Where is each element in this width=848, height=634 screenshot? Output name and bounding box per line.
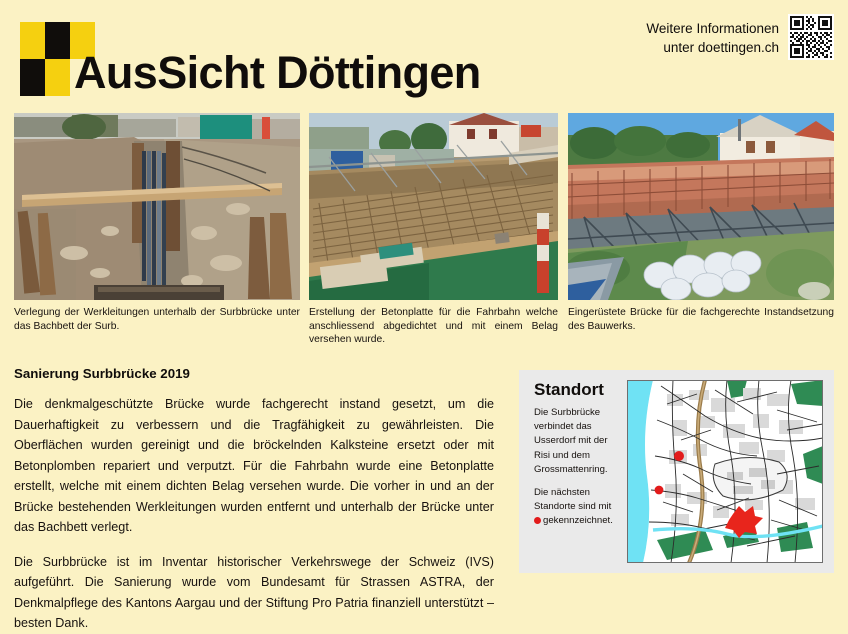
red-dot-icon: [534, 517, 541, 524]
photo-scaffolded-bridge: [568, 113, 834, 300]
photo-item-2: Erstellung der Betonplatte für die Fahrb…: [309, 113, 558, 347]
standort-legend-after: gekennzeichnet.: [543, 515, 613, 526]
article-title: Sanierung Surbbrücke 2019: [14, 366, 494, 381]
article-paragraph-1: Die denkmalgeschützte Brücke wurde fachg…: [14, 394, 494, 538]
article-paragraph-2: Die Surbbrücke ist im Inventar historisc…: [14, 552, 494, 634]
nearby-location-dot: [674, 451, 684, 461]
photo-caption-1: Verlegung der Werkleitungen unterhalb de…: [14, 306, 300, 333]
more-information-text: Weitere Informationen unter doettingen.c…: [646, 14, 779, 57]
photo-item-1: Verlegung der Werkleitungen unterhalb de…: [14, 113, 300, 333]
qr-code[interactable]: [788, 14, 834, 60]
standort-text-block: Standort Die Surbbrücke verbindet das Us…: [534, 380, 622, 529]
standort-title: Standort: [534, 380, 622, 400]
page-title: AusSicht Döttingen: [74, 50, 481, 95]
location-map[interactable]: [627, 380, 823, 563]
photo-caption-2: Erstellung der Betonplatte für die Fahrb…: [309, 306, 558, 347]
photo-pipe-laying: [14, 113, 300, 300]
header: AusSicht Döttingen Weitere Informationen…: [0, 0, 848, 112]
standort-legend: Die nächsten Standorte sind mit gekennze…: [534, 486, 622, 529]
article: Sanierung Surbbrücke 2019 Die denkmalges…: [14, 366, 494, 634]
photo-item-3: Eingerüstete Brücke für die fachgerechte…: [568, 113, 834, 333]
photo-concrete-slab: [309, 113, 558, 300]
nearby-location-dot: [655, 486, 664, 495]
photo-gallery: Verlegung der Werkleitungen unterhalb de…: [0, 113, 848, 351]
standort-description: Die Surbbrücke verbindet das Usserdorf m…: [534, 406, 622, 477]
more-information-line2: unter doettingen.ch: [646, 38, 779, 57]
standort-panel: Standort Die Surbbrücke verbindet das Us…: [519, 370, 834, 573]
more-information-block[interactable]: Weitere Informationen unter doettingen.c…: [646, 14, 834, 60]
photo-caption-3: Eingerüstete Brücke für die fachgerechte…: [568, 306, 834, 333]
poster-page: AusSicht Döttingen Weitere Informationen…: [0, 0, 848, 600]
more-information-line1: Weitere Informationen: [646, 19, 779, 38]
standort-legend-before: Die nächsten Standorte sind mit: [534, 487, 611, 512]
